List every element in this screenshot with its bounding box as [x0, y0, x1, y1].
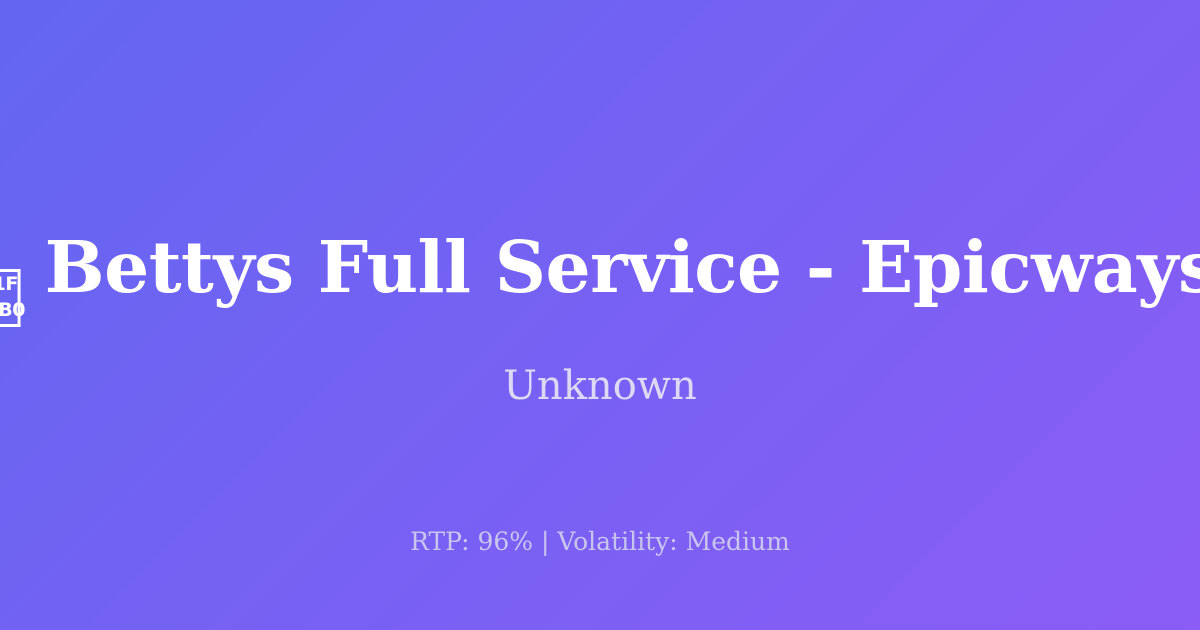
slot-machine-icon: 1F 3B0: [0, 238, 21, 327]
provider-subtitle: Unknown: [0, 366, 1200, 406]
og-share-card: 1F 3B0 Bettys Full Service - Epicways Un…: [0, 0, 1200, 630]
game-title-text: Bettys Full Service - Epicways: [45, 232, 1200, 303]
game-stats-line: RTP: 96% | Volatility: Medium: [0, 529, 1200, 554]
codepoint-top: 1F: [0, 272, 18, 298]
page-title: 1F 3B0 Bettys Full Service - Epicways: [0, 232, 1200, 329]
codepoint-bottom: 3B0: [0, 298, 25, 324]
missing-glyph-box: 1F 3B0: [0, 269, 21, 327]
